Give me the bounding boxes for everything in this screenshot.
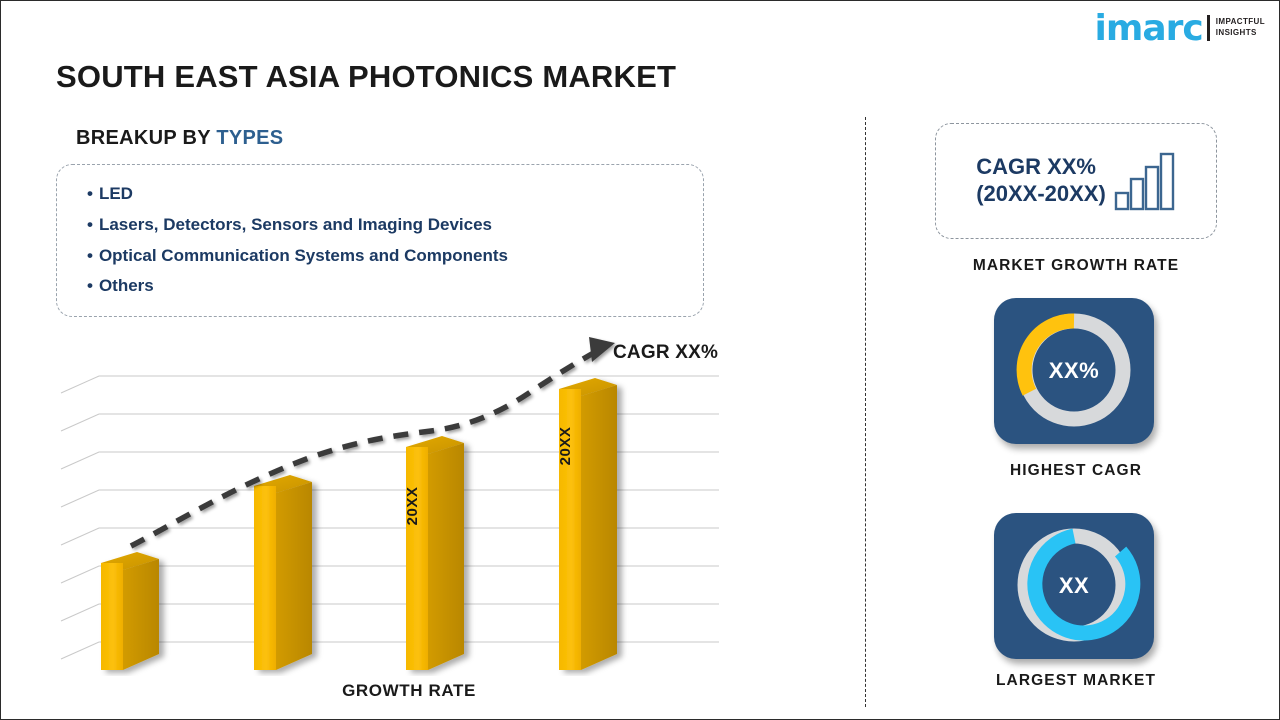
bullet-icon: • xyxy=(87,215,93,234)
list-item: •Lasers, Detectors, Sensors and Imaging … xyxy=(87,210,683,241)
page-title: SOUTH EAST ASIA PHOTONICS MARKET xyxy=(56,59,676,95)
bar-chart-icon xyxy=(1114,151,1176,211)
bullet-icon: • xyxy=(87,276,93,295)
section-subtitle: BREAKUP BY TYPES xyxy=(76,127,283,150)
bullet-icon: • xyxy=(87,184,93,203)
bar-column xyxy=(559,378,617,670)
cagr-value-text: CAGR XX% (20XX-20XX) xyxy=(976,154,1106,208)
list-item-label: Others xyxy=(99,276,154,295)
cagr-line2: (20XX-20XX) xyxy=(976,181,1106,208)
list-item: •LED xyxy=(87,179,683,210)
bar-value-label: 20XX xyxy=(404,487,421,526)
chart-x-axis-label: GROWTH RATE xyxy=(59,681,759,701)
logo-tagline-line1: IMPACTFUL xyxy=(1216,17,1265,28)
logo-wordmark: imarc xyxy=(1095,11,1203,47)
bar-column xyxy=(254,475,312,670)
trend-arrow xyxy=(131,337,615,546)
cagr-line1: CAGR XX% xyxy=(976,154,1106,181)
bar-column xyxy=(406,436,464,670)
highest-cagr-card: XX% xyxy=(994,298,1154,444)
list-item-label: LED xyxy=(99,184,133,203)
list-item: •Others xyxy=(87,271,683,302)
chart-cagr-annotation: CAGR XX% xyxy=(613,342,718,364)
logo-tagline: IMPACTFUL INSIGHTS xyxy=(1216,17,1265,41)
bullet-icon: • xyxy=(87,246,93,265)
growth-bar-chart: 20XX 20XX GROWTH RATE xyxy=(59,331,759,676)
logo-tagline-line2: INSIGHTS xyxy=(1216,28,1265,39)
breakup-types-box: •LED •Lasers, Detectors, Sensors and Ima… xyxy=(56,164,704,317)
section-divider xyxy=(865,117,866,707)
bar-value-label: 20XX xyxy=(557,427,574,466)
list-item-label: Lasers, Detectors, Sensors and Imaging D… xyxy=(99,215,492,234)
chart-canvas: 20XX 20XX xyxy=(59,331,759,676)
largest-market-value: XX xyxy=(994,513,1154,659)
imarc-logo: imarc IMPACTFUL INSIGHTS xyxy=(1095,11,1265,47)
chart-gridlines xyxy=(61,376,719,659)
bar-column xyxy=(101,552,159,670)
highest-cagr-value: XX% xyxy=(994,298,1154,444)
list-item-label: Optical Communication Systems and Compon… xyxy=(99,246,508,265)
logo-divider xyxy=(1207,15,1210,41)
largest-market-card: XX xyxy=(994,513,1154,659)
largest-market-caption: LARGEST MARKET xyxy=(935,672,1217,690)
list-item: •Optical Communication Systems and Compo… xyxy=(87,241,683,272)
market-growth-rate-box: CAGR XX% (20XX-20XX) xyxy=(935,123,1217,239)
subtitle-highlight: TYPES xyxy=(216,127,283,149)
logo-mark: imarc xyxy=(1095,11,1203,47)
subtitle-prefix: BREAKUP BY xyxy=(76,127,216,149)
highest-cagr-caption: HIGHEST CAGR xyxy=(935,462,1217,480)
market-growth-rate-caption: MARKET GROWTH RATE xyxy=(935,257,1217,275)
infographic-page: imarc IMPACTFUL INSIGHTS SOUTH EAST ASIA… xyxy=(1,1,1279,719)
